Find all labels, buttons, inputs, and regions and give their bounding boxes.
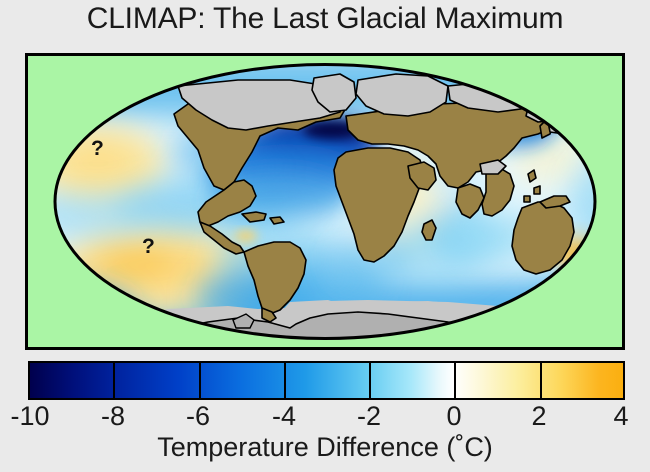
colorbar-tick [369,361,371,400]
colorbar-tick-label: -10 [10,401,49,432]
map-panel: ? ? [25,53,625,350]
colorbar-axis-label: Temperature Difference (˚C) [0,432,650,463]
colorbar-gradient [28,361,625,400]
climap-figure: CLIMAP: The Last Glacial Maximum [0,0,650,472]
figure-title: CLIMAP: The Last Glacial Maximum [0,2,650,36]
colorbar-tick [113,361,115,400]
colorbar-tick [540,361,542,400]
world-map [28,56,622,347]
colorbar-tick [284,361,286,400]
colorbar-tick-label: -6 [186,401,210,432]
colorbar-tick-label: -8 [101,401,125,432]
colorbar-tick-label: 2 [531,401,546,432]
colorbar-tick-label: 0 [446,401,461,432]
colorbar [28,361,625,400]
colorbar-tick [199,361,201,400]
colorbar-tick [454,361,456,400]
colorbar-tick-label: 4 [613,401,628,432]
colorbar-tick-label: -2 [357,401,381,432]
colorbar-tick-label: -4 [272,401,296,432]
